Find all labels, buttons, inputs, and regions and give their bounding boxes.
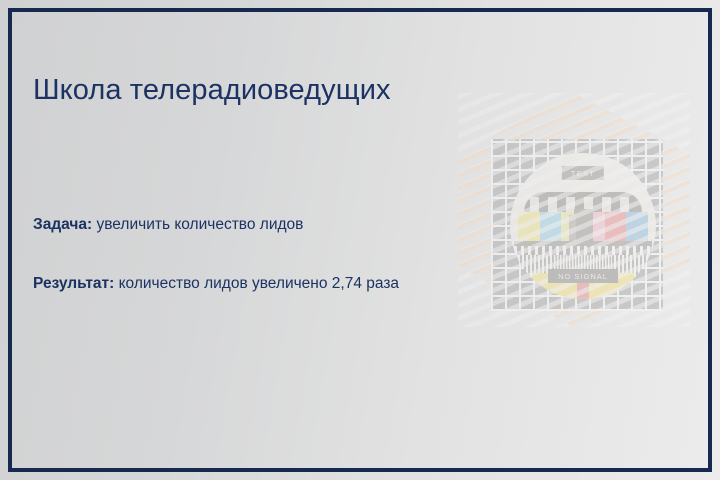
fence-pattern (514, 246, 652, 255)
slide-canvas: TEXT NO SIGNAL (0, 0, 720, 480)
tv-screen-circle: TEXT NO SIGNAL (510, 153, 656, 299)
screen-text-label: TEXT (562, 166, 604, 180)
tv-test-pattern-illustration: TEXT NO SIGNAL (458, 93, 690, 327)
body-text-block: Задача: увеличить количество лидов Резул… (33, 214, 413, 295)
page-title: Школа телерадиоведущих (33, 74, 391, 107)
paragraph-task-text: увеличить количество лидов (92, 216, 303, 233)
paragraph-task: Задача: увеличить количество лидов (33, 214, 413, 236)
paragraph-result: Результат: количество лидов увеличено 2,… (33, 273, 413, 295)
paragraph-result-label: Результат: (33, 275, 114, 292)
paragraph-task-label: Задача: (33, 216, 92, 233)
screen-no-signal-label: NO SIGNAL (548, 269, 618, 283)
paragraph-result-text: количество лидов увеличено 2,74 раза (114, 275, 399, 292)
